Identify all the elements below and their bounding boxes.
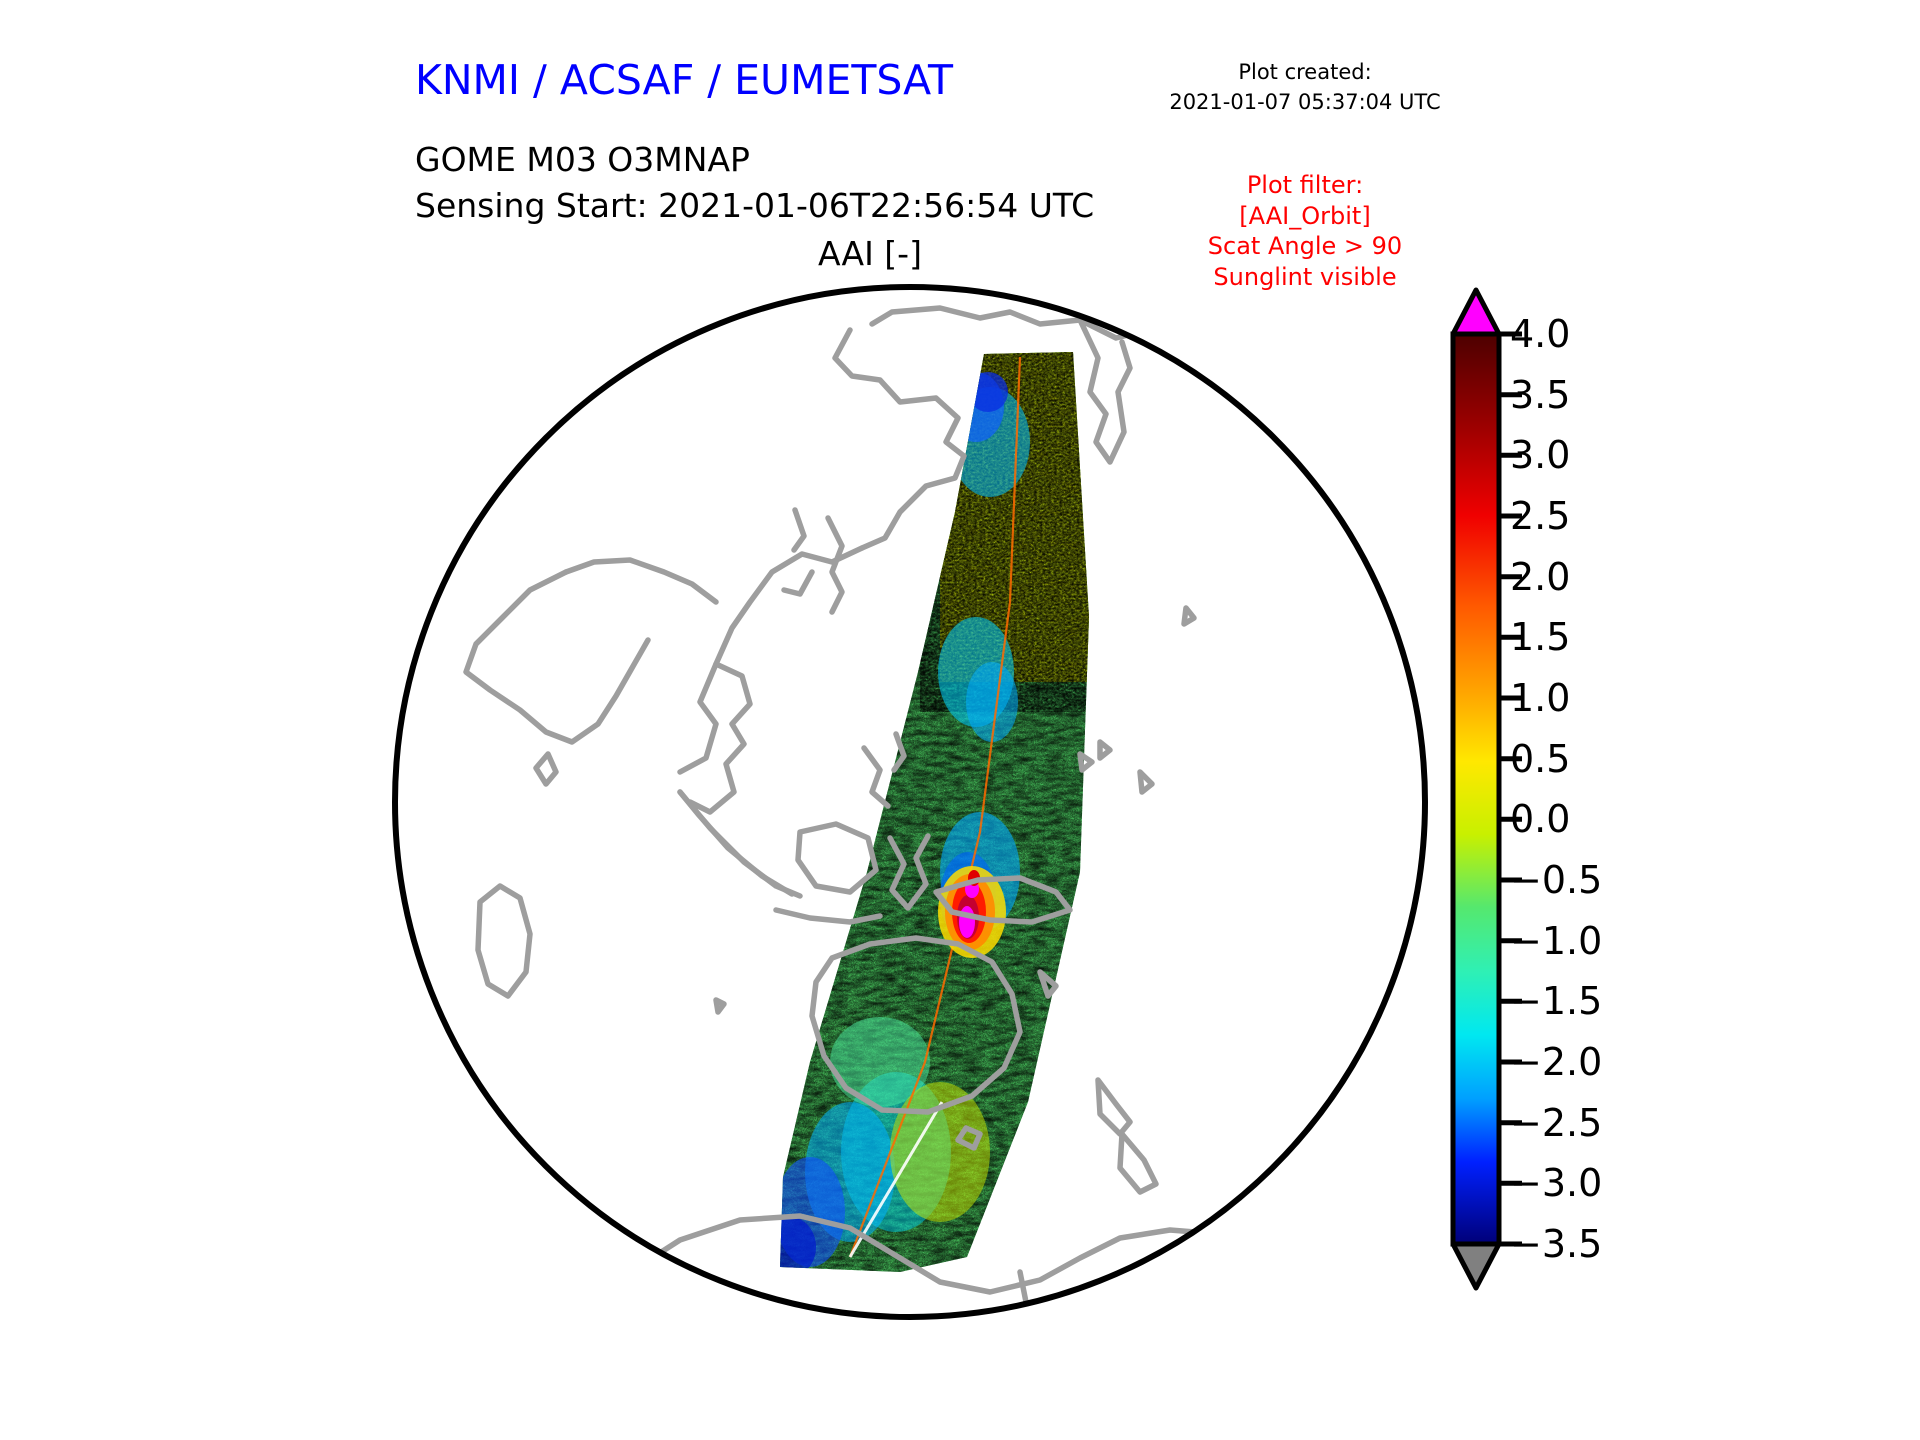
product-block: GOME M03 O3MNAP Sensing Start: 2021-01-0…	[415, 137, 1094, 228]
plot-filter-scat-angle: Scat Angle > 90	[1160, 231, 1450, 262]
colorbar-tick-label-neg3.0: −3.0	[1510, 1164, 1602, 1202]
globe-map	[380, 272, 1440, 1332]
colorbar-tick-label-2.0: 2.0	[1510, 558, 1570, 596]
colorbar-tick-label-neg3.5: −3.5	[1510, 1225, 1602, 1263]
plot-created-label: Plot created:	[1160, 58, 1450, 88]
colorbar-tick-label-0.0: 0.0	[1510, 800, 1570, 838]
colorbar: 4.0 3.5 3.0 2.5 2.0 1.5 1.0 0.5 0.0 −0.5…	[1444, 286, 1774, 1326]
parameter-title: AAI [-]	[480, 234, 1260, 273]
colorbar-tick-label-neg2.0: −2.0	[1510, 1043, 1602, 1081]
colorbar-tick-label-3.5: 3.5	[1510, 376, 1570, 414]
colorbar-tick-label-neg1.5: −1.5	[1510, 982, 1602, 1020]
plot-created-timestamp: 2021-01-07 05:37:04 UTC	[1160, 88, 1450, 118]
sensing-start: Sensing Start: 2021-01-06T22:56:54 UTC	[415, 183, 1094, 229]
colorbar-tick-label-2.5: 2.5	[1510, 497, 1570, 535]
colorbar-tick-label-0.5: 0.5	[1510, 740, 1570, 778]
plot-page: KNMI / ACSAF / EUMETSAT Plot created: 20…	[0, 0, 1920, 1440]
colorbar-over-arrow	[1453, 290, 1499, 334]
colorbar-tick-label-1.5: 1.5	[1510, 618, 1570, 656]
colorbar-under-arrow	[1453, 1244, 1499, 1288]
organisation-title: KNMI / ACSAF / EUMETSAT	[415, 60, 953, 101]
product-name: GOME M03 O3MNAP	[415, 137, 1094, 183]
plot-filter-label: Plot filter:	[1160, 170, 1450, 201]
colorbar-tick-label-neg1.0: −1.0	[1510, 922, 1602, 960]
colorbar-tick-label-neg0.5: −0.5	[1510, 861, 1602, 899]
colorbar-tick-label-4.0: 4.0	[1510, 315, 1570, 353]
colorbar-tick-label-3.0: 3.0	[1510, 436, 1570, 474]
plot-created-block: Plot created: 2021-01-07 05:37:04 UTC	[1160, 58, 1450, 118]
colorbar-tick-label-neg2.5: −2.5	[1510, 1104, 1602, 1142]
colorbar-gradient	[1453, 334, 1499, 1244]
colorbar-tick-label-1.0: 1.0	[1510, 679, 1570, 717]
plot-filter-dataset: [AAI_Orbit]	[1160, 201, 1450, 232]
